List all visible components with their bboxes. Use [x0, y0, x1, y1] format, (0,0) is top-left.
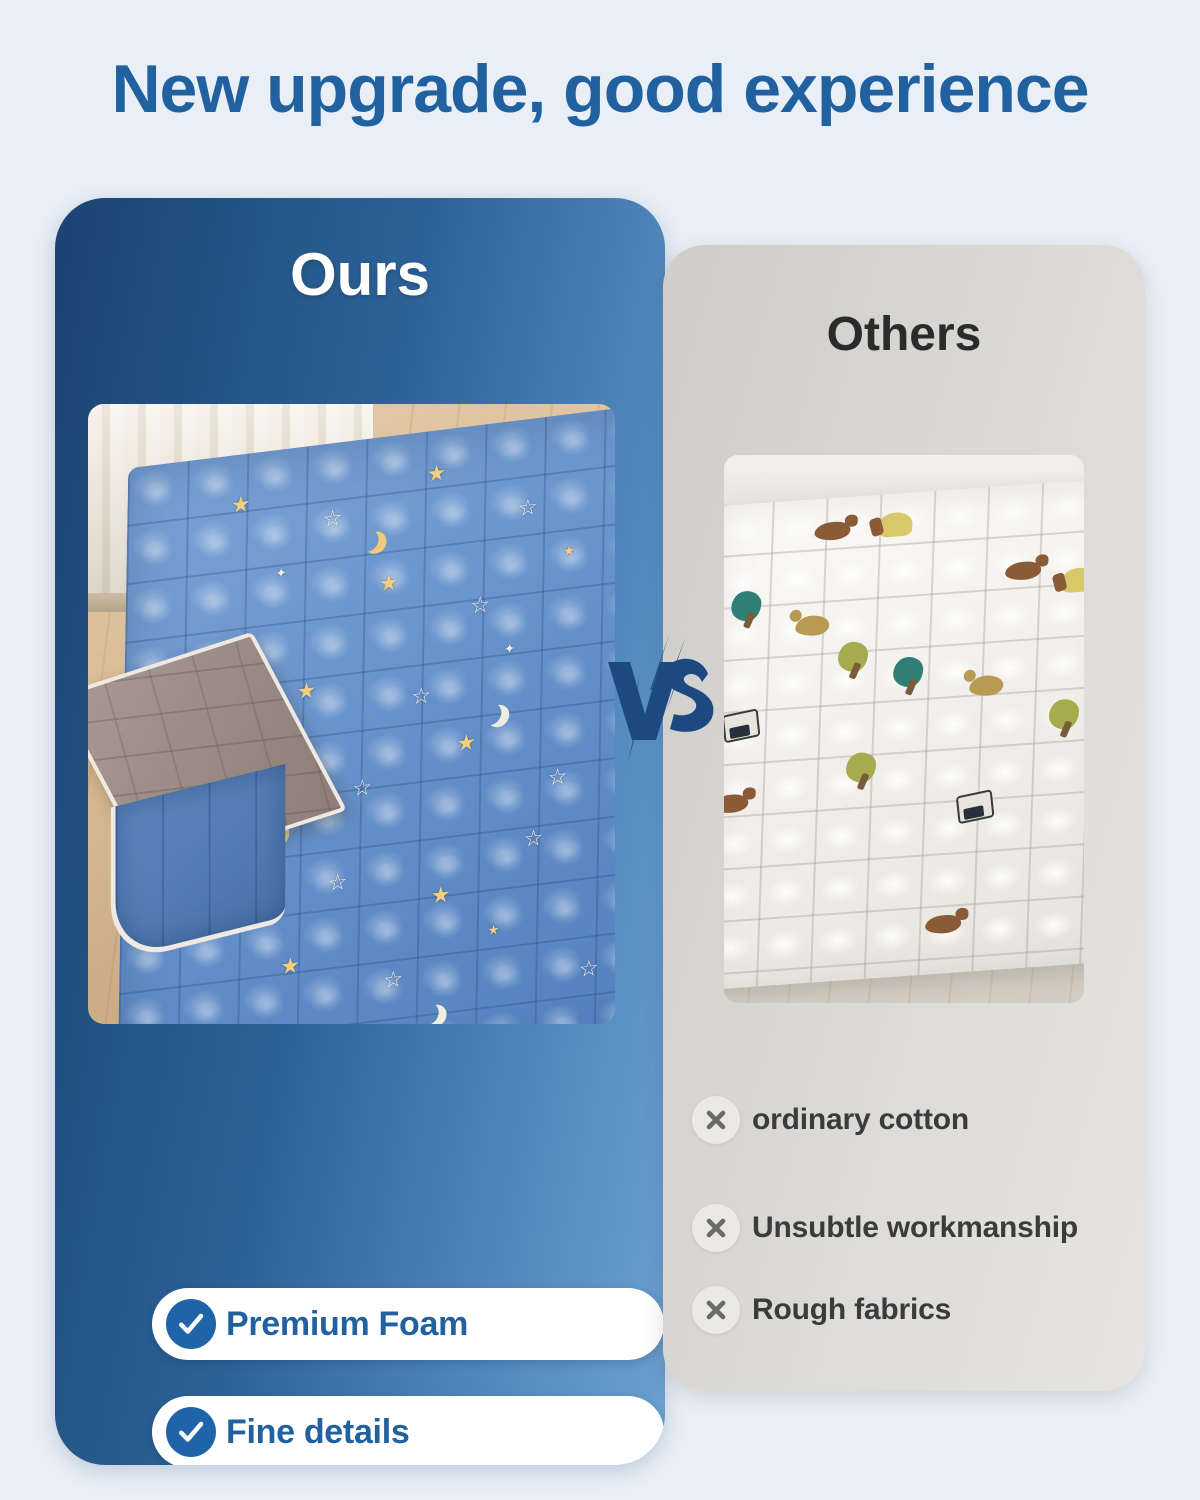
- vs-badge: [600, 630, 720, 770]
- others-product-photo: [724, 455, 1084, 1003]
- x-icon: [692, 1204, 740, 1252]
- ours-card: Ours ★ ☆ ★ ☆ ✦ ★ ☆ ★ ☆: [55, 198, 665, 1465]
- ours-heading: Ours: [55, 198, 665, 309]
- x-icon: [692, 1286, 740, 1334]
- others-feature-1-label: ordinary cotton: [752, 1103, 969, 1137]
- ours-feature-1-label: Premium Foam: [226, 1305, 468, 1344]
- check-icon: [166, 1299, 216, 1349]
- others-heading: Others: [663, 245, 1145, 362]
- others-feature-3[interactable]: Rough fabrics: [692, 1284, 951, 1336]
- folded-corner: [99, 652, 336, 925]
- comparison-infographic: New upgrade, good experience Ours ★ ☆ ★ …: [0, 0, 1200, 1500]
- white-quilted-mat: [724, 478, 1084, 991]
- others-feature-3-label: Rough fabrics: [752, 1293, 951, 1327]
- others-feature-2-label: Unsubtle workmanship: [752, 1211, 1078, 1245]
- ours-feature-2-label: Fine details: [226, 1413, 409, 1452]
- ours-feature-1[interactable]: Premium Foam: [152, 1288, 664, 1360]
- others-feature-2[interactable]: Unsubtle workmanship: [692, 1202, 1078, 1254]
- animal-motifs: [724, 478, 1084, 991]
- page-title: New upgrade, good experience: [0, 52, 1200, 127]
- ours-feature-2[interactable]: Fine details: [152, 1396, 664, 1465]
- x-icon: [692, 1096, 740, 1144]
- check-icon: [166, 1407, 216, 1457]
- ours-product-photo: ★ ☆ ★ ☆ ✦ ★ ☆ ★ ☆ ★ ☆ ✦ ★ ☆ ★: [88, 404, 615, 1024]
- others-feature-1[interactable]: ordinary cotton: [692, 1094, 969, 1146]
